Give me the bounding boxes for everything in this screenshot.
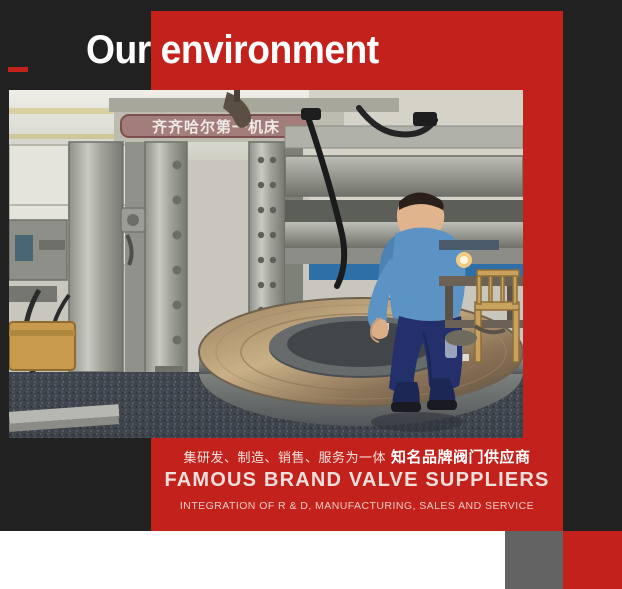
caption-chinese-line: 集研发、制造、销售、服务为一体知名品牌阀门供应商 <box>151 448 563 468</box>
factory-photo: 齐齐哈尔第一机床 <box>9 90 523 438</box>
our-environment-section: Our environment <box>0 0 622 589</box>
caption-chinese-bold: 知名品牌阀门供应商 <box>391 449 531 466</box>
factory-photo-illustration: 齐齐哈尔第一机床 <box>9 90 523 438</box>
caption-block: 集研发、制造、销售、服务为一体知名品牌阀门供应商 FAMOUS BRAND VA… <box>151 448 563 513</box>
accent-dash-marker <box>8 67 28 72</box>
red-corner-block <box>563 531 622 589</box>
machine-sign-text: 齐齐哈尔第一机床 <box>152 118 280 136</box>
caption-english-subline: INTEGRATION OF R & D, MANUFACTURING, SAL… <box>151 499 563 513</box>
page-title: Our environment <box>86 24 514 76</box>
caption-chinese-light: 集研发、制造、销售、服务为一体 <box>183 450 386 465</box>
gray-corner-block <box>505 531 563 589</box>
caption-english-headline: FAMOUS BRAND VALVE SUPPLIERS <box>151 468 563 492</box>
